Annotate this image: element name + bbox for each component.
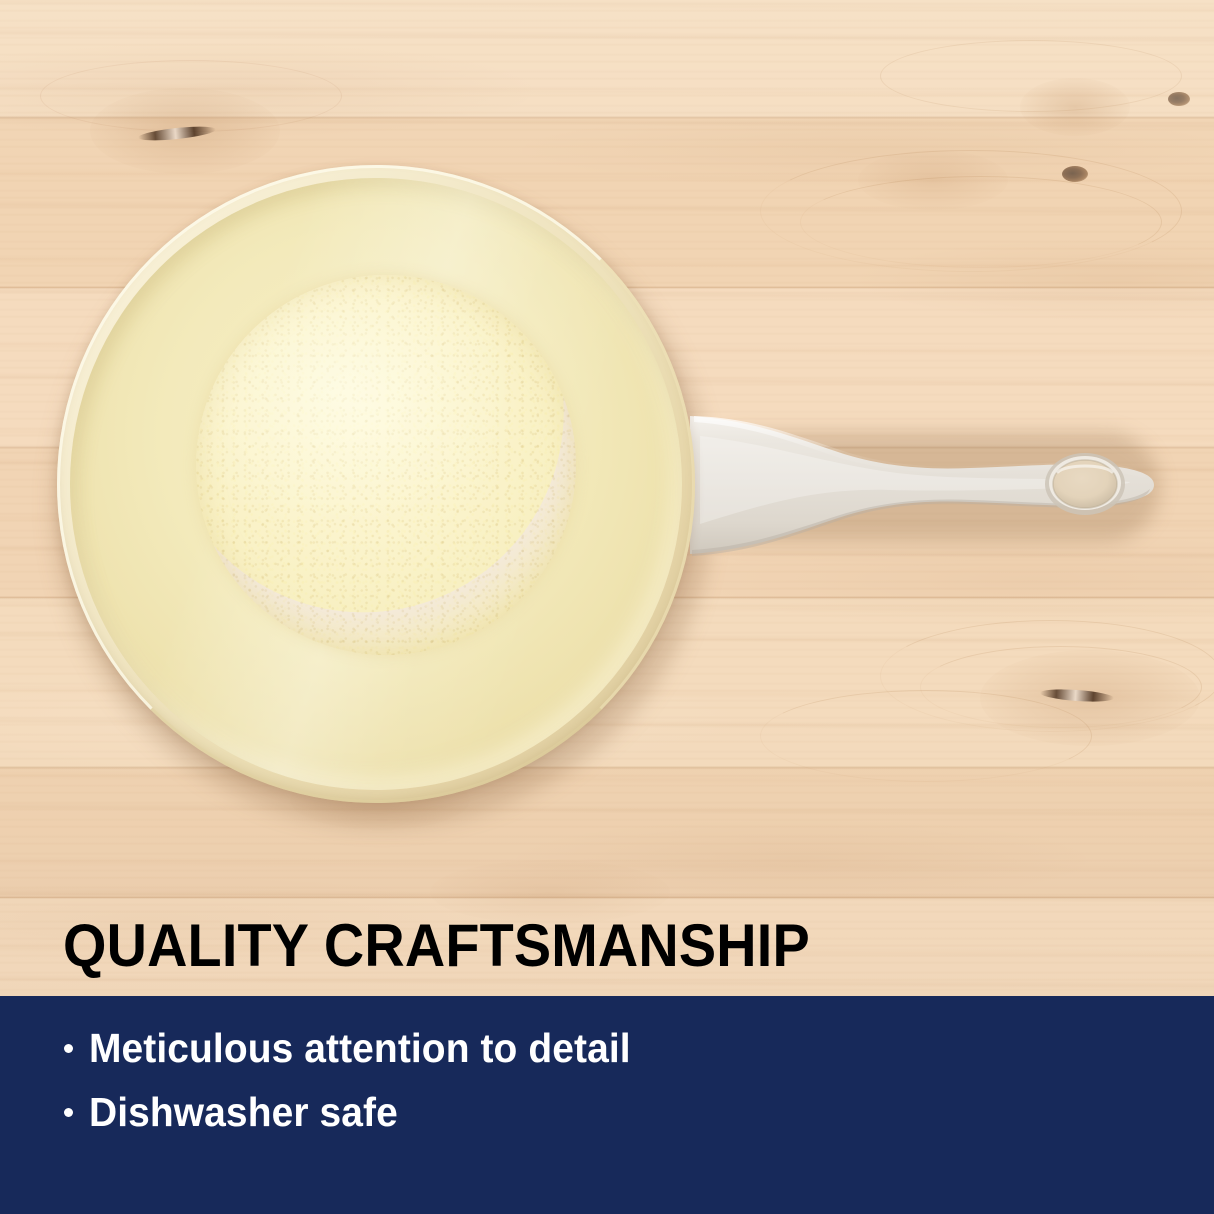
- headline: QUALITY CRAFTSMANSHIP: [63, 916, 1077, 976]
- feature-band: Meticulous attention to detail Dishwashe…: [0, 996, 1214, 1214]
- list-item: Dishwasher safe: [64, 1086, 1164, 1138]
- frying-pan: [0, 0, 1214, 1000]
- feature-bullet-text: Meticulous attention to detail: [89, 1022, 631, 1074]
- pan-cooking-surface: [196, 275, 576, 655]
- bullet-dot-icon: [64, 1044, 73, 1053]
- feature-bullet-text: Dishwasher safe: [89, 1086, 398, 1138]
- product-marketing-image: QUALITY CRAFTSMANSHIP Meticulous attenti…: [0, 0, 1214, 1214]
- pan-handle: [660, 410, 1160, 560]
- feature-bullet-list: Meticulous attention to detail Dishwashe…: [64, 1022, 1164, 1151]
- bullet-dot-icon: [64, 1108, 73, 1117]
- list-item: Meticulous attention to detail: [64, 1022, 1164, 1074]
